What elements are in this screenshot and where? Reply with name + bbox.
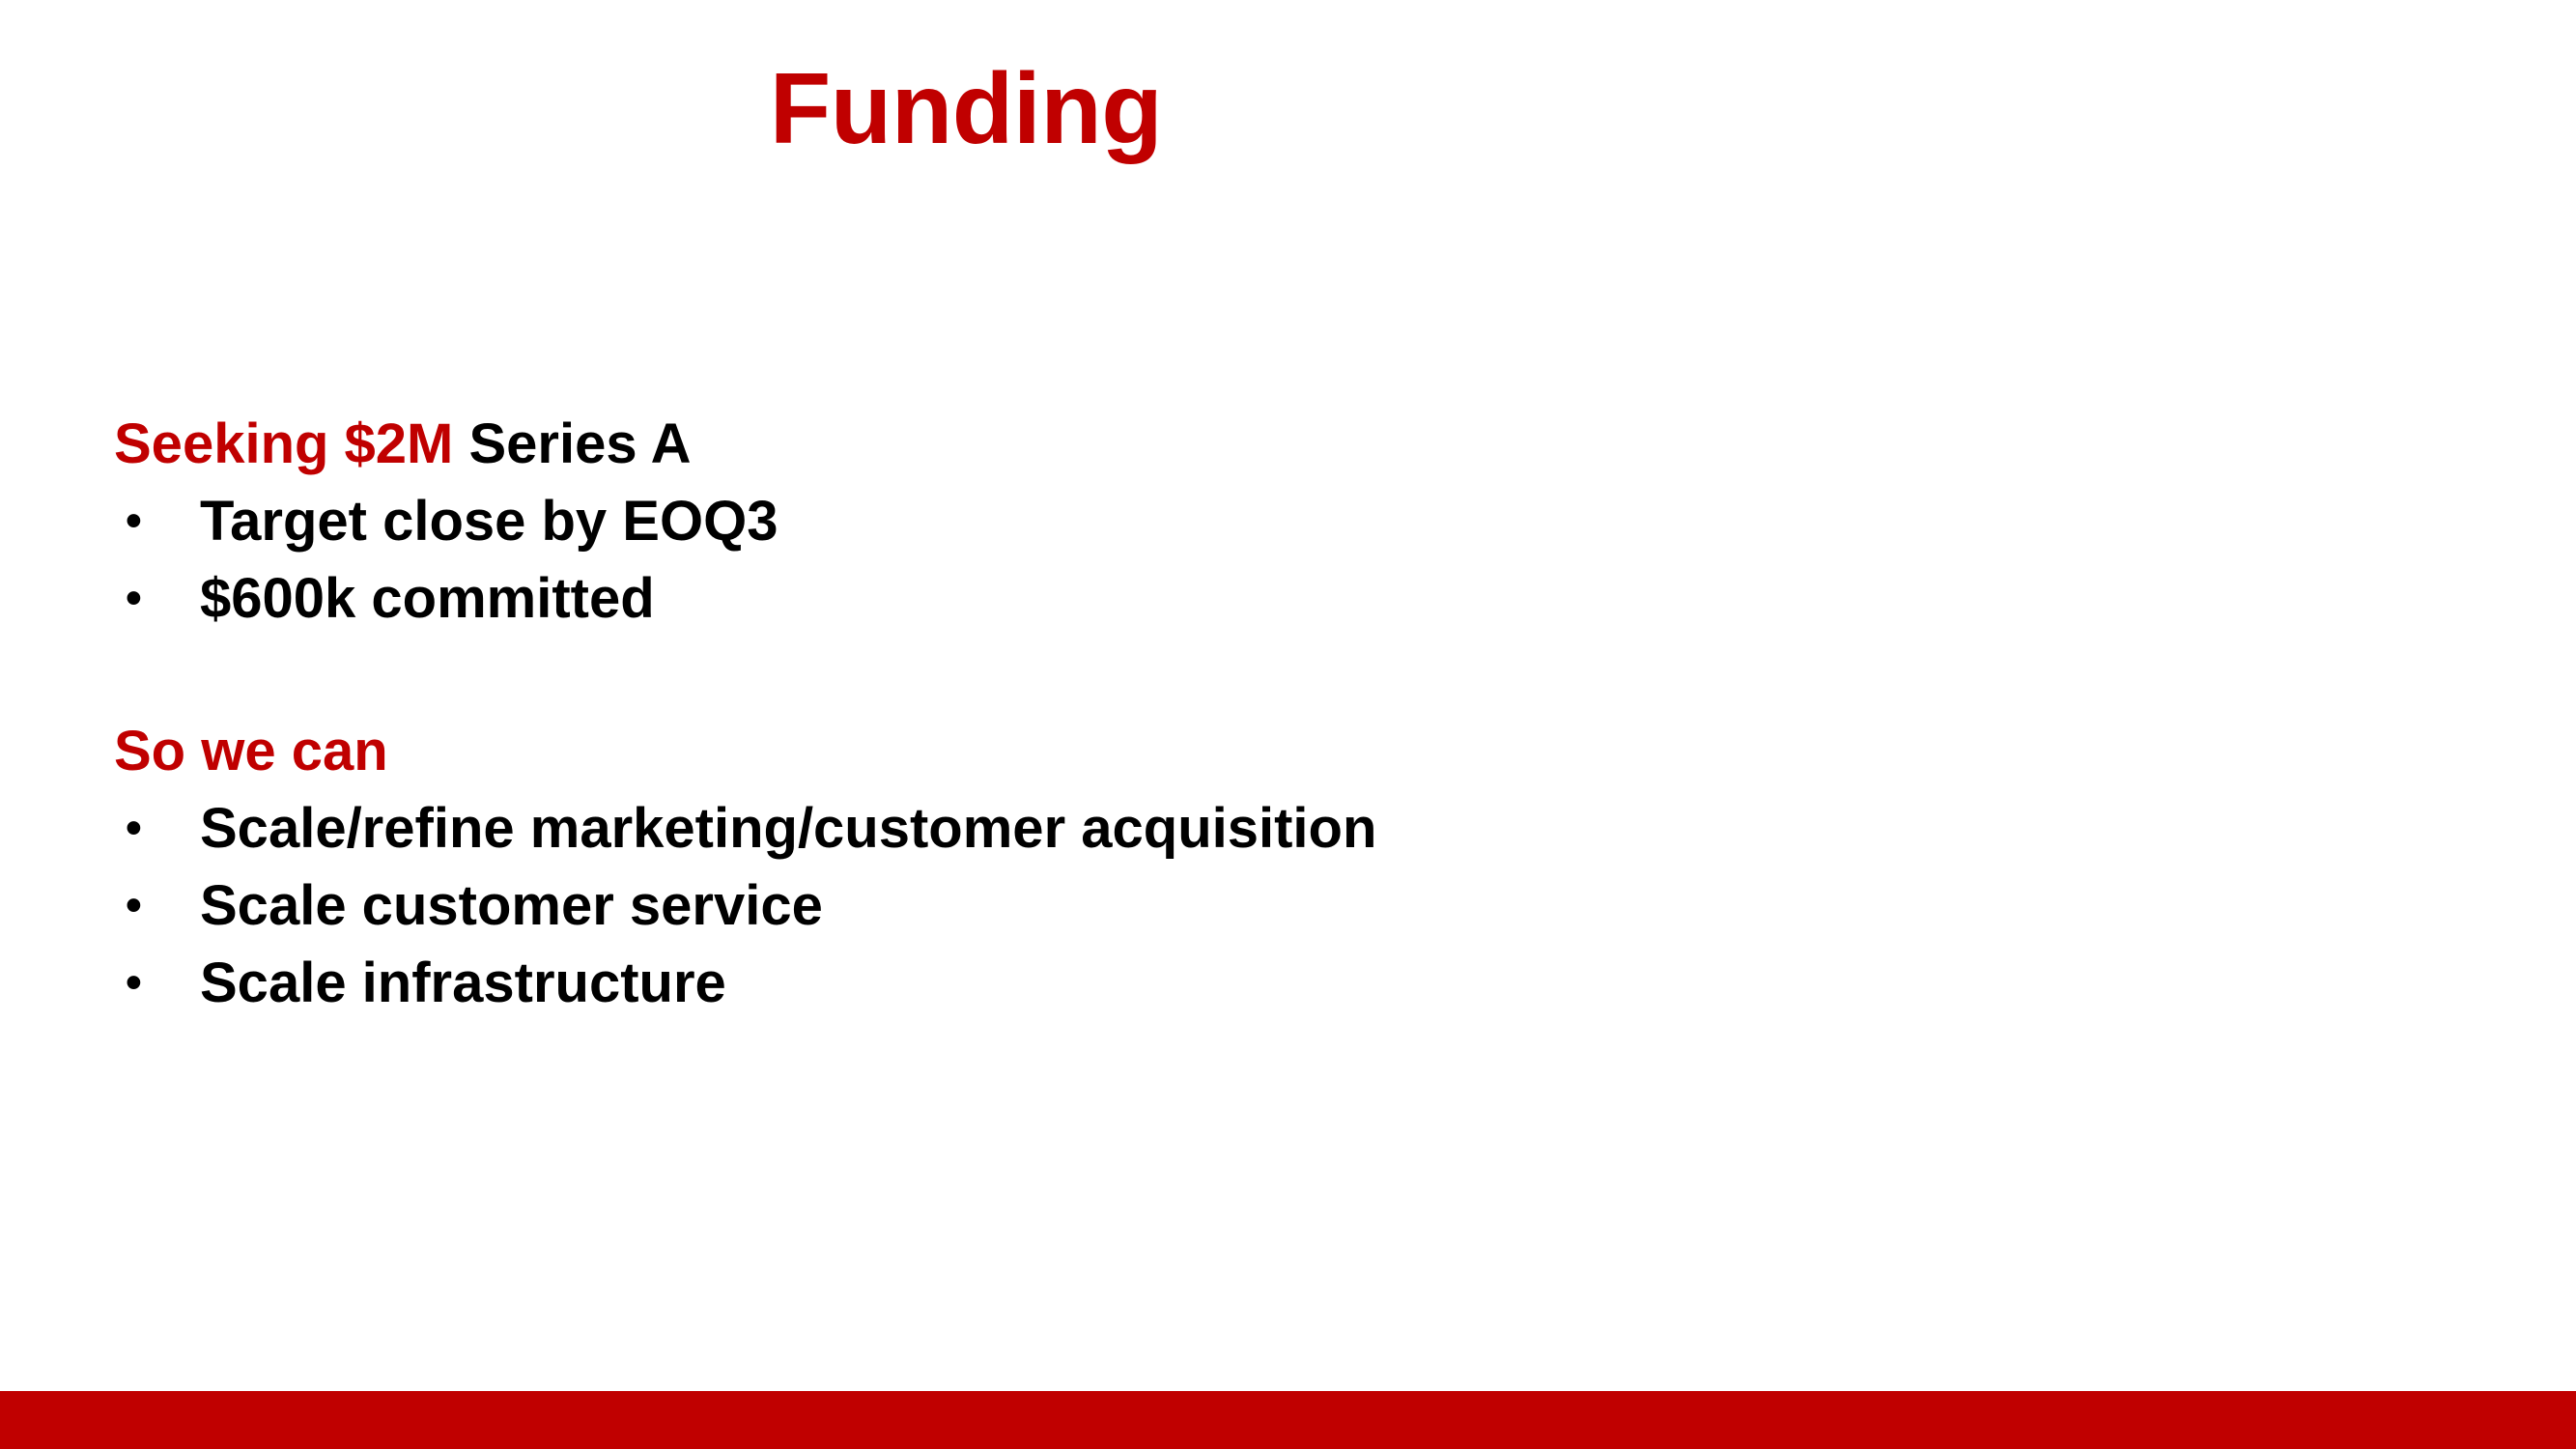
bullet-icon: •: [126, 483, 155, 560]
section-heading-accent: Seeking $2M: [114, 412, 453, 475]
section-heading-tail: Series A: [453, 412, 691, 475]
list-item-label: Scale/refine marketing/customer acquisit…: [200, 797, 1376, 860]
list-item-label: $600k committed: [200, 567, 655, 630]
bullet-list: • Target close by EOQ3 • $600k committed: [114, 483, 2432, 638]
list-item: • Target close by EOQ3: [114, 483, 2432, 560]
section-heading-accent: So we can: [114, 720, 388, 782]
list-item: • Scale infrastructure: [114, 945, 2432, 1022]
bullet-icon: •: [126, 560, 155, 638]
list-item: • Scale customer service: [114, 867, 2432, 945]
slide-body: Seeking $2M Series A • Target close by E…: [114, 406, 2432, 1022]
list-item: • Scale/refine marketing/customer acquis…: [114, 790, 2432, 867]
bullet-list: • Scale/refine marketing/customer acquis…: [114, 790, 2432, 1022]
section-heading: Seeking $2M Series A: [114, 406, 2432, 483]
footer-accent-bar: [0, 1391, 2576, 1449]
section-funding-ask: Seeking $2M Series A • Target close by E…: [114, 406, 2432, 638]
list-item-label: Scale customer service: [200, 874, 823, 937]
list-item-label: Target close by EOQ3: [200, 490, 778, 553]
bullet-icon: •: [126, 945, 155, 1022]
presentation-slide: Funding Seeking $2M Series A • Target cl…: [0, 0, 2576, 1449]
list-item-label: Scale infrastructure: [200, 952, 726, 1014]
list-item: • $600k committed: [114, 560, 2432, 638]
section-heading: So we can: [114, 713, 2432, 790]
bullet-icon: •: [126, 790, 155, 867]
section-use-of-funds: So we can • Scale/refine marketing/custo…: [114, 713, 2432, 1022]
page-title: Funding: [0, 50, 1932, 169]
bullet-icon: •: [126, 867, 155, 945]
